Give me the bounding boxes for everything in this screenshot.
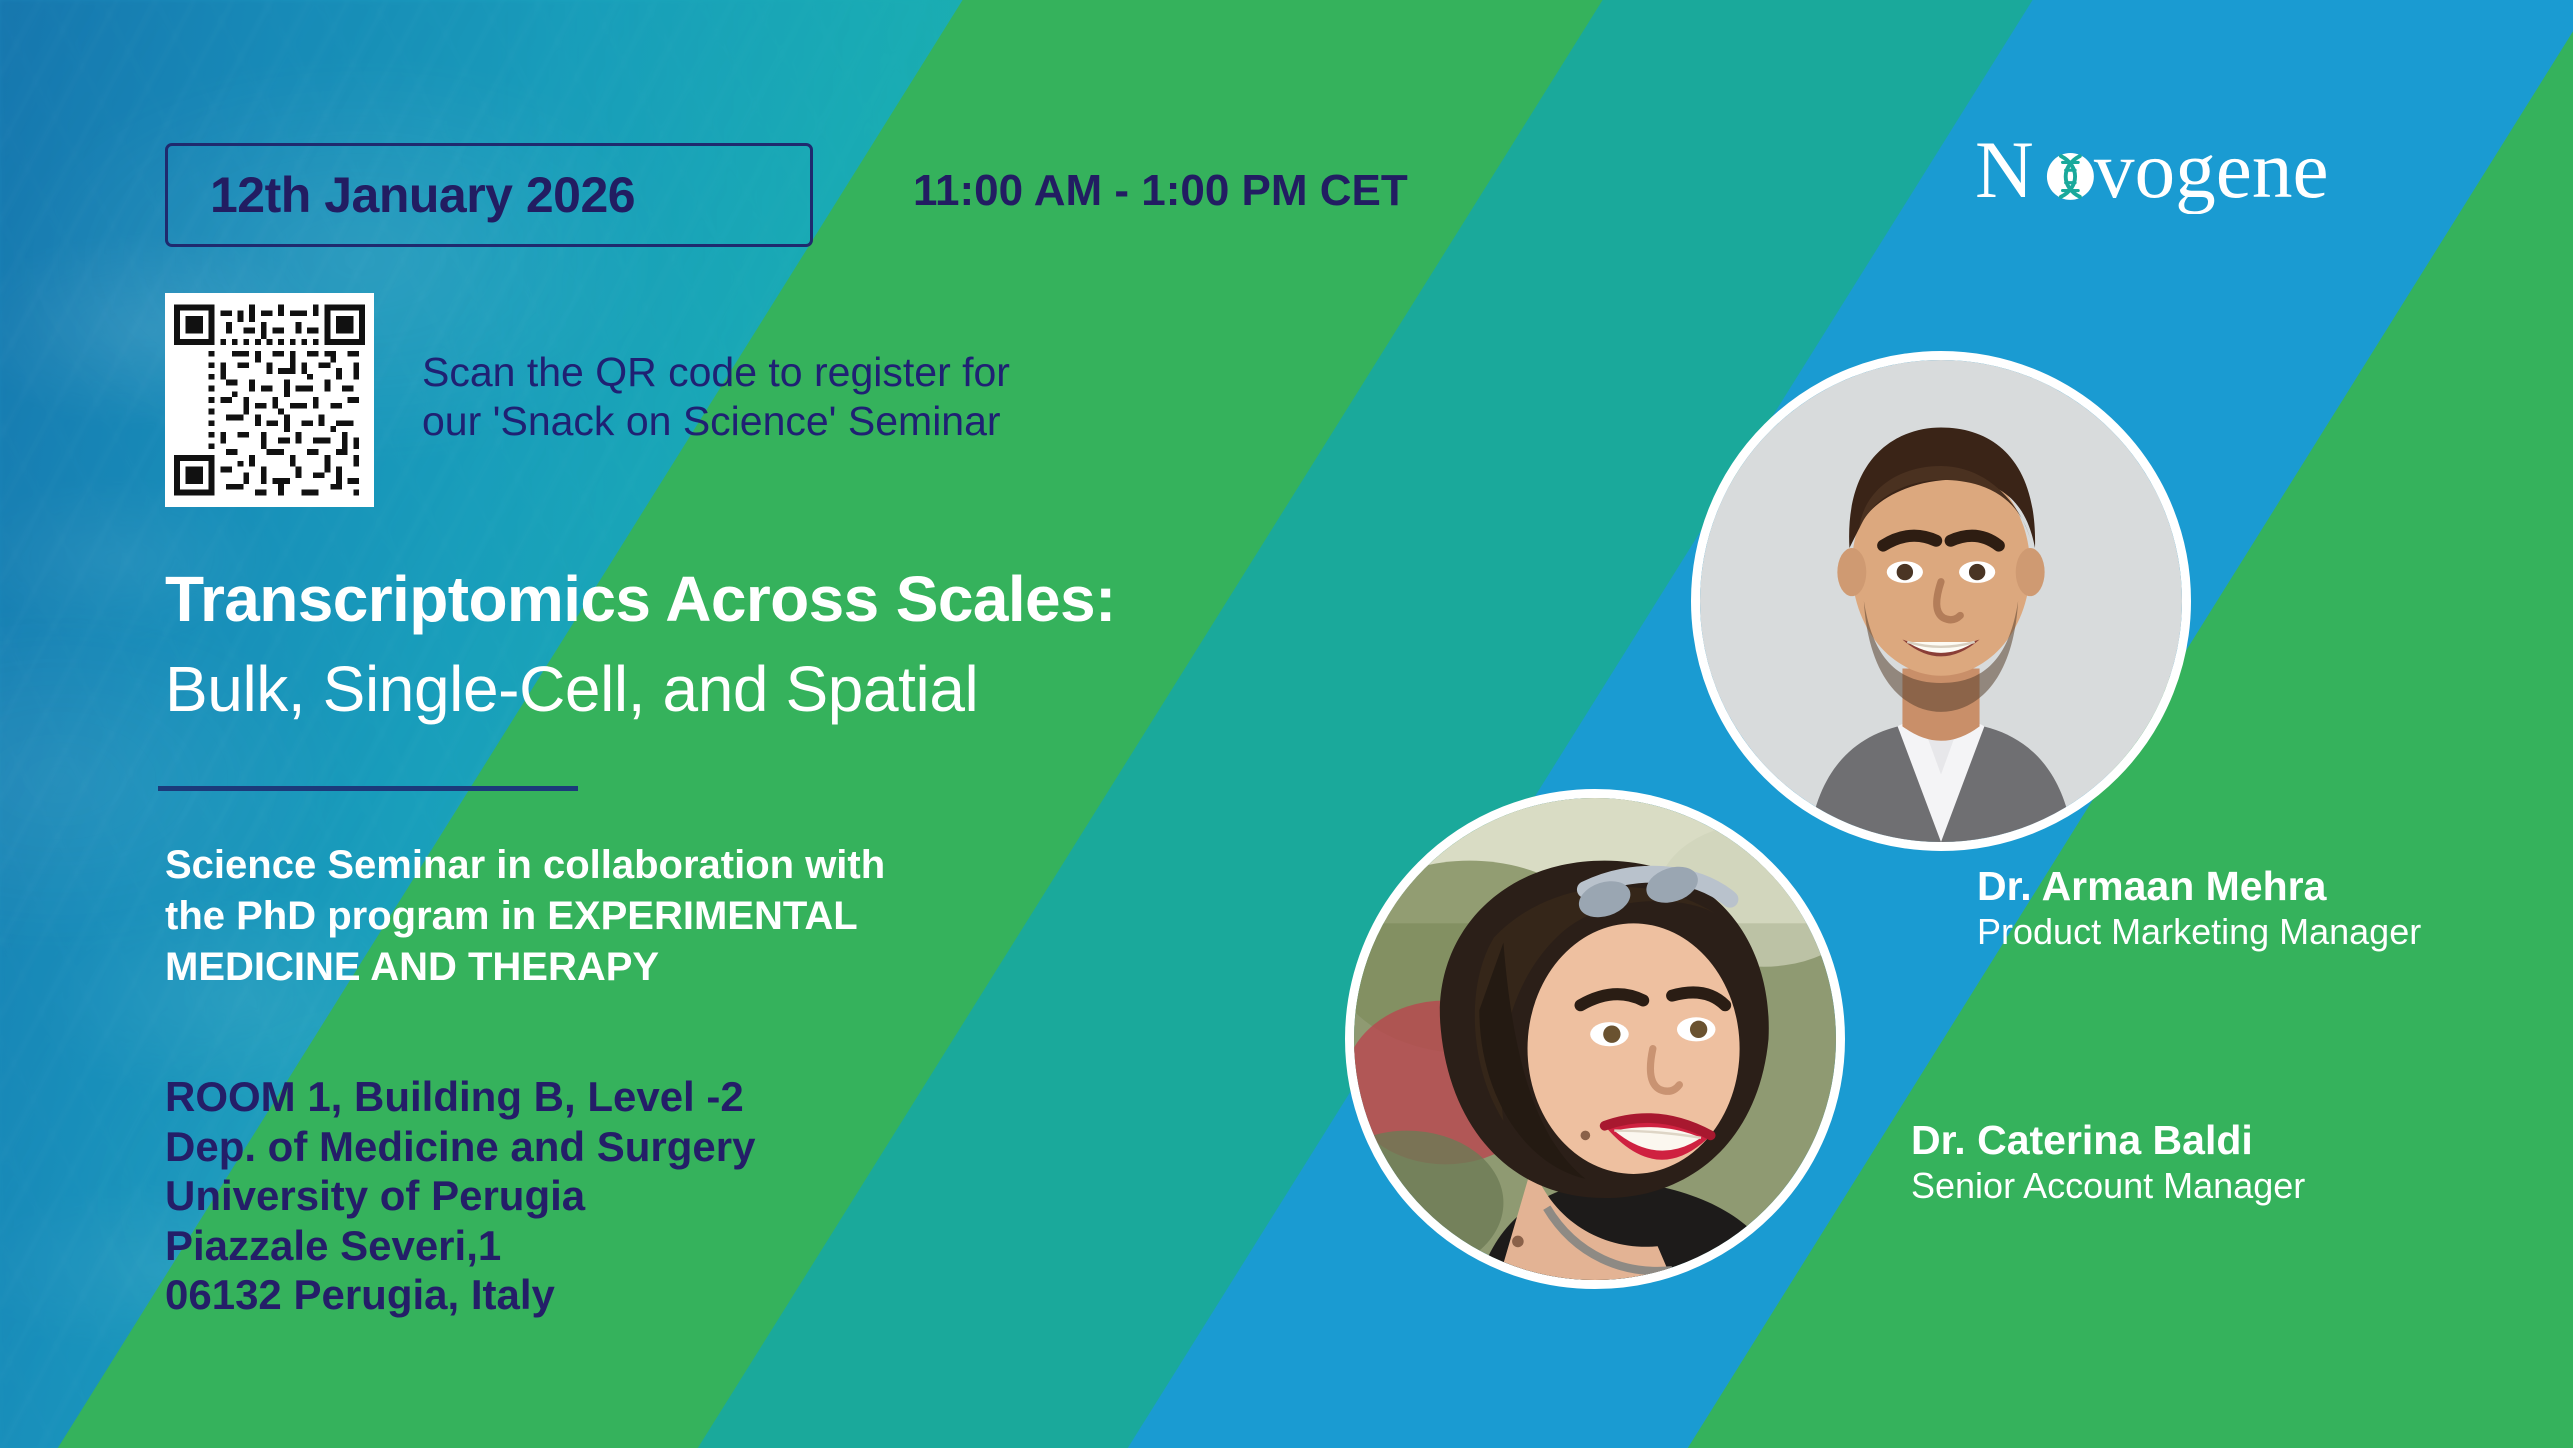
page-title: Transcriptomics Across Scales: [165,562,1116,636]
qr-code[interactable] [165,293,374,507]
collaboration-text: Science Seminar in collaboration with th… [165,840,1225,994]
novogene-logo: N vogene [1975,128,2366,214]
page-subtitle: Bulk, Single-Cell, and Spatial [165,652,978,726]
speaker-label-1: Dr. Armaan Mehra Product Marketing Manag… [1977,864,2421,953]
speaker-name-2: Dr. Caterina Baldi [1911,1118,2305,1164]
speaker-role-1: Product Marketing Manager [1977,910,2421,953]
event-banner: 12th January 2026 11:00 AM - 1:00 PM CET [0,0,2573,1448]
event-time: 11:00 AM - 1:00 PM CET [913,166,1408,216]
dna-helix-icon [2047,153,2094,200]
qr-instruction-text: Scan the QR code to register for our 'Sn… [422,348,1010,446]
venue-address: ROOM 1, Building B, Level -2 Dep. of Med… [165,1072,1165,1320]
avatar-caterina-baldi [1345,789,1845,1289]
svg-text:N: N [1975,128,2034,214]
speaker-role-2: Senior Account Manager [1911,1164,2305,1207]
speaker-label-2: Dr. Caterina Baldi Senior Account Manage… [1911,1118,2305,1207]
speaker-name-1: Dr. Armaan Mehra [1977,864,2421,910]
svg-text:vogene: vogene [2094,128,2329,214]
avatar-armaan-mehra [1691,351,2191,851]
event-date: 12th January 2026 [210,166,635,224]
title-divider [158,786,578,791]
event-date-box: 12th January 2026 [165,143,813,247]
